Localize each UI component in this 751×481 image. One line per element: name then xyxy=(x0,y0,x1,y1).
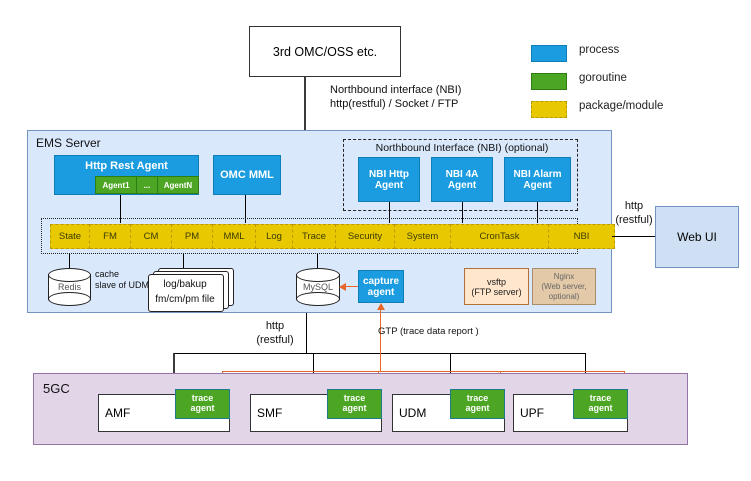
module-log[interactable]: Log xyxy=(256,224,293,249)
web-ui-link-line1: http xyxy=(608,200,660,214)
log-backup-line2: fm/cm/pm file xyxy=(148,294,222,305)
module-trace[interactable]: Trace xyxy=(293,224,336,249)
goroutine-agentn[interactable]: AgentN xyxy=(158,176,199,194)
module-pm[interactable]: PM xyxy=(172,224,213,249)
module-mml[interactable]: MML xyxy=(213,224,256,249)
ems-server-title: EMS Server xyxy=(36,136,101,150)
nf-label-amf: AMF xyxy=(105,406,130,420)
mysql-datastore[interactable]: MySQL xyxy=(296,268,340,306)
goroutine-swatch xyxy=(531,73,567,90)
http-bus-horizontal xyxy=(173,353,585,354)
trace-agent-upf-line2: agent xyxy=(588,404,612,414)
nbi-4a-agent-line1: NBI 4A xyxy=(446,169,479,180)
legend-label-process: process xyxy=(579,44,619,56)
http-trunk-vertical xyxy=(306,313,307,354)
goroutine-agent1[interactable]: Agent1 xyxy=(95,176,137,194)
omc-mml-box[interactable]: OMC MML xyxy=(213,155,281,195)
gtp-trunk-arrow xyxy=(377,303,385,310)
nbi-external-connector xyxy=(304,77,306,130)
nbi-alarm-agent-line2: Agent xyxy=(523,180,551,191)
trace-agent-udm[interactable]: trace agent xyxy=(450,389,505,419)
capture-agent-line2: agent xyxy=(368,287,395,298)
module-state[interactable]: State xyxy=(50,224,90,249)
trace-agent-upf[interactable]: trace agent xyxy=(573,389,628,419)
gtp-trunk-vertical xyxy=(380,309,381,371)
ems-to-web-ui-connector xyxy=(612,236,655,237)
nf-label-smf: SMF xyxy=(257,406,282,420)
module-security[interactable]: Security xyxy=(336,224,395,249)
gtp-label: GTP (trace data report ) xyxy=(378,326,538,337)
redis-cylinder-bottom xyxy=(48,292,91,306)
legend: process goroutine package/module xyxy=(531,42,731,112)
module-system[interactable]: System xyxy=(395,224,451,249)
http-rest-agent-title: Http Rest Agent xyxy=(55,160,198,172)
trace-agent-amf[interactable]: trace agent xyxy=(175,389,230,419)
trace-agent-amf-line2: agent xyxy=(190,404,214,414)
nginx-line3: optional) xyxy=(549,292,580,302)
mysql-cylinder-bottom xyxy=(296,292,340,306)
third-party-omc-oss-label: 3rd OMC/OSS etc. xyxy=(273,45,377,59)
web-ui-link-label: http (restful) xyxy=(608,200,660,228)
module-fm[interactable]: FM xyxy=(90,224,131,249)
third-party-omc-oss-box[interactable]: 3rd OMC/OSS etc. xyxy=(249,26,401,77)
nbi-http-agent-line1: NBI Http xyxy=(369,169,409,180)
package-module-swatch xyxy=(531,101,567,118)
nbi-alarm-agent-box[interactable]: NBI Alarm Agent xyxy=(504,157,571,202)
nbi-alarm-agent-line1: NBI Alarm xyxy=(514,169,562,180)
http-rest-agent-box[interactable]: Http Rest Agent Agent1 ... AgentN xyxy=(54,155,199,195)
nginx-line1: Nginx xyxy=(554,272,574,282)
vsftp-line1: vsftp xyxy=(487,277,506,287)
nginx-service-box[interactable]: Nginx (Web server, optional) xyxy=(532,268,596,305)
nf-label-udm: UDM xyxy=(399,406,426,420)
vsftp-service-box[interactable]: vsftp (FTP server) xyxy=(464,268,529,305)
module-crontask[interactable]: CronTask xyxy=(451,224,549,249)
log-backup-file-stack[interactable]: log/bakup fm/cm/pm file xyxy=(148,268,234,310)
nbi-link-label: Northbound interface (NBI) http(restful)… xyxy=(330,84,540,112)
capture-agent-box[interactable]: capture agent xyxy=(358,270,404,303)
legend-label-goroutine: goroutine xyxy=(579,72,627,84)
nf-label-upf: UPF xyxy=(520,406,544,420)
capture-agent-line1: capture xyxy=(363,276,399,287)
redis-datastore[interactable]: Redis xyxy=(48,268,91,306)
trace-agent-udm-line2: agent xyxy=(465,404,489,414)
module-cm[interactable]: CM xyxy=(131,224,172,249)
nbi-link-label-line2: http(restful) / Socket / FTP xyxy=(330,98,540,112)
http-restful-label: http (restful) xyxy=(249,320,301,348)
capture-agent-to-mysql-line xyxy=(345,286,358,287)
mysql-label: MySQL xyxy=(296,282,340,292)
http-restful-line1: http xyxy=(249,320,301,334)
log-backup-line1: log/bakup xyxy=(148,279,222,290)
nginx-line2: (Web server, xyxy=(541,282,586,292)
nbi-4a-agent-box[interactable]: NBI 4A Agent xyxy=(431,157,493,202)
capture-agent-to-mysql-arrow xyxy=(339,283,346,291)
core-network-title: 5GC xyxy=(43,381,70,396)
nbi-link-label-line1: Northbound interface (NBI) xyxy=(330,84,540,98)
nbi-4a-agent-line2: Agent xyxy=(448,180,476,191)
web-ui-box[interactable]: Web UI xyxy=(655,206,739,268)
vsftp-line2: (FTP server) xyxy=(471,287,521,297)
module-nbi[interactable]: NBI xyxy=(549,224,615,249)
nbi-group-title: Northbound Interface (NBI) (optional) xyxy=(351,142,573,154)
web-ui-link-line2: (restful) xyxy=(608,214,660,228)
nbi-http-agent-line2: Agent xyxy=(375,180,403,191)
legend-label-package-module: package/module xyxy=(579,100,663,112)
process-swatch xyxy=(531,45,567,62)
mysql-cylinder-top xyxy=(296,268,340,282)
trace-agent-smf[interactable]: trace agent xyxy=(327,389,382,419)
http-restful-line2: (restful) xyxy=(249,334,301,348)
trace-agent-smf-line2: agent xyxy=(342,404,366,414)
nbi-http-agent-box[interactable]: NBI Http Agent xyxy=(358,157,420,202)
goroutine-agent-ellipsis[interactable]: ... xyxy=(137,176,158,194)
redis-label: Redis xyxy=(48,282,91,292)
redis-cylinder-top xyxy=(48,268,91,282)
module-bar: State FM CM PM MML Log Trace Security Sy… xyxy=(50,224,615,247)
